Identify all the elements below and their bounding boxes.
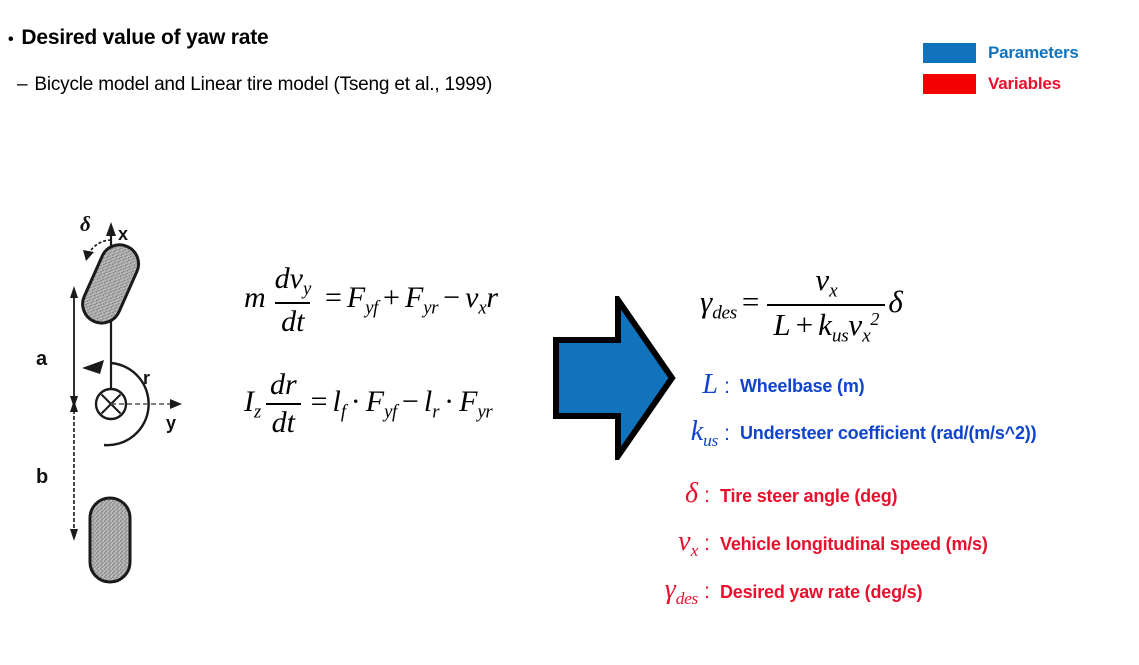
- definition-text-desired-yaw-rate: Desired yaw rate (deg/s): [720, 582, 922, 603]
- definition-text-wheelbase: Wheelbase (m): [740, 376, 864, 397]
- eqr-gamma-sub: des: [712, 303, 737, 324]
- eq2-term4: F: [459, 385, 477, 418]
- eq2-term4-sub: yr: [477, 401, 492, 422]
- y-axis-arrowhead-icon: [170, 399, 182, 409]
- eq1-denominator: dt: [275, 302, 310, 339]
- eq2-dot-2: ·: [439, 385, 459, 418]
- bicycle-model-svg: [24, 208, 224, 590]
- symbol-vx-base: v: [678, 526, 690, 557]
- eq1-term1: F: [347, 281, 365, 314]
- eqr-num-v: v: [815, 262, 829, 297]
- eqr-den-k: k: [818, 307, 832, 342]
- symbol-desired-yaw-rate: γdes: [640, 576, 698, 607]
- eq1-term1-sub: yf: [365, 298, 378, 319]
- eq1-minus: −: [438, 281, 465, 314]
- eq1-term2-sub: yr: [423, 298, 438, 319]
- eqr-den-k-sub: us: [832, 325, 848, 346]
- eqr-den-v: v: [848, 307, 862, 342]
- label-y-axis: y: [166, 413, 176, 434]
- eq2-inertia-sub: z: [254, 401, 261, 422]
- definition-text-understeer-coefficient: Understeer coefficient (rad/(m/s^2)): [740, 423, 1036, 444]
- eq1-term2: F: [405, 281, 423, 314]
- yaw-rate-arrowhead-icon: [82, 360, 104, 374]
- equation-desired-yaw-rate: γdes= vx L+kusvx2 δ: [700, 262, 903, 347]
- definition-row-understeer-coefficient: kus : Understeer coefficient (rad/(m/s^2…: [660, 410, 1036, 457]
- eq1-term3: v: [465, 281, 478, 314]
- legend-label-parameters: Parameters: [988, 43, 1079, 63]
- legend-item-parameters: Parameters: [923, 42, 1133, 64]
- symbol-vx-sub: x: [691, 541, 698, 560]
- bicycle-model-diagram: δ x r y a b: [24, 208, 224, 590]
- legend-label-variables: Variables: [988, 74, 1061, 94]
- variable-definitions: δ : Tire steer angle (deg) vx : Vehicle …: [640, 472, 988, 616]
- bullet-dot-icon: •: [8, 32, 13, 48]
- legend-swatch-parameters: [923, 43, 976, 63]
- legend-swatch-variables: [923, 74, 976, 94]
- eqr-delta: δ: [888, 284, 902, 319]
- eq2-term2-sub: yf: [384, 401, 397, 422]
- definition-row-longitudinal-speed: vx : Vehicle longitudinal speed (m/s): [640, 520, 988, 568]
- colon-longitudinal-speed: :: [698, 532, 716, 556]
- colon-tire-steer-angle: :: [698, 484, 716, 508]
- label-distance-a: a: [36, 348, 47, 371]
- definition-text-longitudinal-speed: Vehicle longitudinal speed (m/s): [720, 534, 988, 555]
- eqr-den-plus: +: [791, 307, 818, 342]
- eq1-equals: =: [320, 281, 347, 314]
- symbol-kus-base: k: [691, 416, 703, 447]
- eq2-equals: =: [306, 385, 333, 418]
- symbol-understeer-coefficient: kus: [660, 418, 718, 449]
- label-distance-b: b: [36, 466, 48, 489]
- label-x-axis: x: [118, 224, 128, 245]
- eq2-minus: −: [397, 385, 424, 418]
- slide-subtitle-text: Bicycle model and Linear tire model (Tse…: [34, 74, 492, 96]
- equation-yaw-dynamics: Iz dr dt =lf·Fyf−lr·Fyr: [244, 368, 492, 440]
- eq2-derivative-fraction: dr dt: [264, 368, 303, 440]
- eqr-den-v-sup: 2: [870, 309, 879, 329]
- eq2-denominator: dt: [266, 403, 301, 440]
- symbol-tire-steer-angle: δ: [640, 480, 698, 511]
- label-steer-angle: δ: [80, 212, 91, 237]
- symbol-gamma-base: γ: [665, 574, 676, 605]
- eqr-denominator: L+kusvx2: [767, 304, 885, 348]
- steer-angle-arrowhead-icon: [83, 250, 94, 261]
- symbol-gamma-sub: des: [676, 589, 698, 608]
- eq1-numerator: dvy: [269, 262, 317, 302]
- rear-tire: [90, 498, 130, 582]
- symbol-longitudinal-speed: vx: [640, 528, 698, 559]
- slide-title-text: Desired value of yaw rate: [21, 26, 268, 50]
- eq2-term3: l: [424, 385, 432, 418]
- transform-arrow-icon: [552, 296, 676, 460]
- dimension-line-b: [70, 400, 78, 541]
- colon-desired-yaw-rate: :: [698, 580, 716, 604]
- definition-text-tire-steer-angle: Tire steer angle (deg): [720, 486, 897, 507]
- eqr-fraction: vx L+kusvx2: [767, 262, 885, 347]
- definition-row-wheelbase: L : Wheelbase (m): [660, 363, 1036, 410]
- equation-lateral-dynamics: m dvy dt =Fyf+Fyr−vxr: [244, 262, 498, 339]
- eq1-term3-tail: r: [486, 281, 498, 314]
- dash-bullet-icon: –: [17, 74, 27, 96]
- eq2-term2: F: [366, 385, 384, 418]
- eqr-num-sub: x: [829, 281, 837, 302]
- symbol-wheelbase-base: L: [702, 369, 718, 400]
- eq1-mass: m: [244, 281, 266, 314]
- slide-title: • Desired value of yaw rate: [8, 26, 269, 50]
- eq2-inertia: I: [244, 385, 254, 418]
- symbol-delta-base: δ: [685, 478, 698, 509]
- symbol-wheelbase: L: [660, 371, 718, 402]
- eqr-gamma: γ: [700, 284, 712, 319]
- symbol-kus-sub: us: [703, 431, 718, 450]
- legend: Parameters Variables: [923, 42, 1133, 104]
- colon-wheelbase: :: [718, 375, 736, 399]
- eq2-dot-1: ·: [346, 385, 366, 418]
- eq1-num-sub: y: [303, 279, 311, 300]
- parameter-definitions: L : Wheelbase (m) kus : Understeer coeff…: [660, 363, 1036, 457]
- eqr-den-L: L: [773, 307, 790, 342]
- x-axis-arrowhead-icon: [106, 222, 116, 236]
- slide-subtitle: – Bicycle model and Linear tire model (T…: [17, 74, 492, 96]
- dimension-line-a: [70, 286, 78, 408]
- eq1-num-dv: dv: [275, 262, 303, 295]
- eqr-numerator: vx: [809, 262, 843, 304]
- definition-row-desired-yaw-rate: γdes : Desired yaw rate (deg/s): [640, 568, 988, 616]
- legend-item-variables: Variables: [923, 73, 1133, 95]
- eq2-term1: l: [333, 385, 341, 418]
- eqr-equals: =: [737, 284, 764, 319]
- definition-row-tire-steer-angle: δ : Tire steer angle (deg): [640, 472, 988, 520]
- eq1-plus: +: [378, 281, 405, 314]
- eq1-derivative-fraction: dvy dt: [269, 262, 317, 339]
- label-yaw-rate: r: [143, 368, 150, 389]
- transform-arrow: [552, 296, 676, 460]
- eq2-numerator: dr: [264, 368, 303, 403]
- colon-understeer-coefficient: :: [718, 422, 736, 446]
